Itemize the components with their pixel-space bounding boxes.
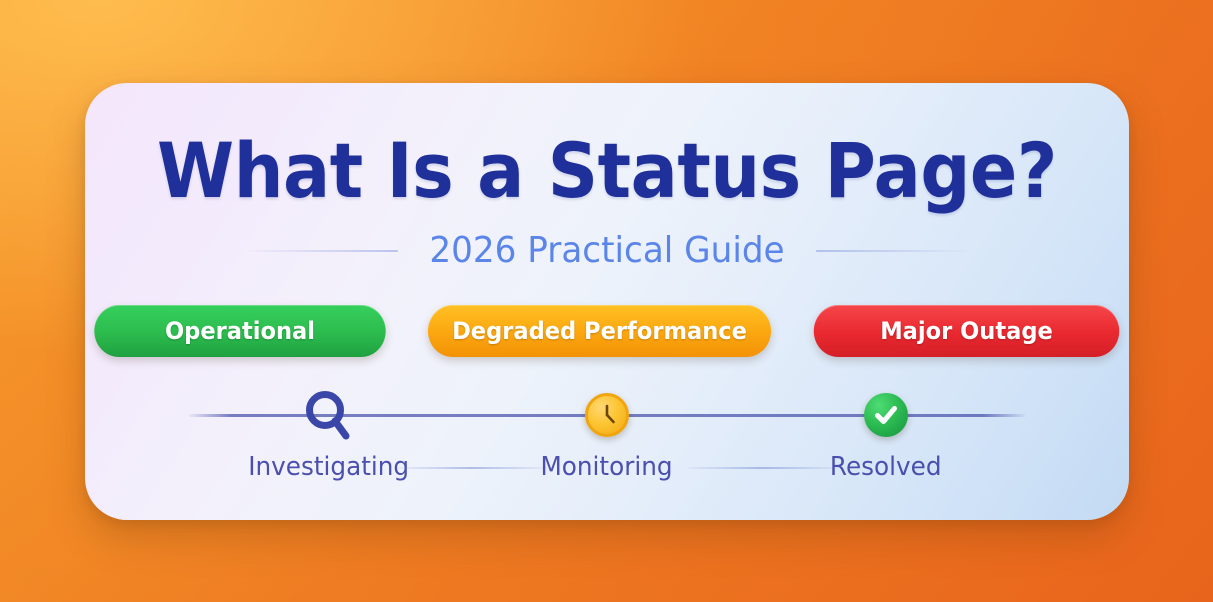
status-badge-label: Degraded Performance [452, 317, 747, 345]
status-badge-group: Operational Degraded Performance Major O… [85, 305, 1129, 357]
subtitle-rule-left [248, 250, 398, 252]
status-badge-label: Major Outage [880, 317, 1053, 345]
subtitle-rule-right [816, 250, 966, 252]
timeline-step-label: Investigating [248, 452, 409, 482]
timeline-step-investigating[interactable]: Investigating [213, 387, 443, 482]
timeline-step-monitoring[interactable]: Monitoring [492, 387, 722, 482]
status-badge-operational[interactable]: Operational [94, 305, 385, 357]
status-badge-degraded-performance[interactable]: Degraded Performance [428, 305, 771, 357]
check-circle-icon-disc [864, 393, 908, 437]
timeline-step-label: Resolved [830, 452, 942, 482]
poster-canvas: What Is a Status Page? 2026 Practical Gu… [0, 0, 1213, 602]
page-subtitle: 2026 Practical Guide [429, 230, 784, 272]
timeline-step-label: Monitoring [541, 452, 673, 482]
magnifier-icon [300, 387, 356, 443]
clock-icon [579, 387, 635, 443]
check-circle-icon [858, 387, 914, 443]
page-title: What Is a Status Page? [127, 129, 1087, 213]
status-badge-major-outage[interactable]: Major Outage [814, 305, 1120, 357]
status-badge-label: Operational [165, 317, 315, 345]
status-page-card: What Is a Status Page? 2026 Practical Gu… [85, 83, 1129, 520]
timeline-steps: Investigating Monitoring [189, 387, 1025, 482]
incident-timeline: Investigating Monitoring [189, 387, 1025, 497]
timeline-step-resolved[interactable]: Resolved [771, 387, 1001, 482]
clock-icon-disc [585, 393, 629, 437]
subtitle-row: 2026 Practical Guide [85, 229, 1129, 273]
